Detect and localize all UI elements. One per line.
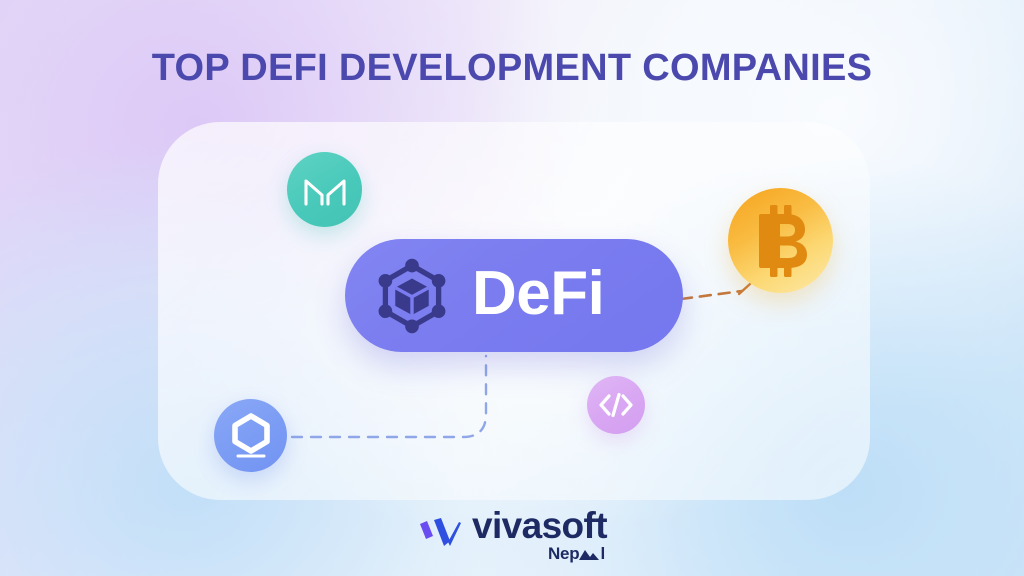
token-circle-chainlink[interactable]: [214, 399, 287, 472]
maker-mkr-icon: [303, 173, 347, 207]
defi-center-label: DeFi: [472, 263, 604, 325]
footer-logo-text: vivasoft Nep l: [472, 507, 607, 562]
code-brackets-icon: [599, 392, 633, 418]
page-title: TOP DEFI DEVELOPMENT COMPANIES: [0, 47, 1024, 90]
mountain-icon: [578, 547, 600, 561]
vivasoft-w-mark: [417, 515, 463, 555]
token-circle-maker[interactable]: [287, 152, 362, 227]
footer-logo: vivasoft Nep l: [0, 507, 1024, 562]
brand-region: Nep l: [548, 545, 605, 562]
token-circle-bitcoin[interactable]: [728, 188, 833, 293]
chainlink-hexagon-icon: [229, 413, 273, 459]
bitcoin-icon: [751, 205, 811, 277]
infographic-canvas: TOP DEFI DEVELOPMENT COMPANIES: [0, 0, 1024, 576]
hexagon-network-cube-icon: [374, 258, 450, 334]
brand-region-prefix: Nep: [548, 545, 580, 562]
defi-center-node[interactable]: DeFi: [345, 239, 683, 352]
brand-name: vivasoft: [472, 507, 607, 544]
brand-region-suffix: l: [600, 545, 605, 562]
token-circle-code[interactable]: [587, 376, 645, 434]
